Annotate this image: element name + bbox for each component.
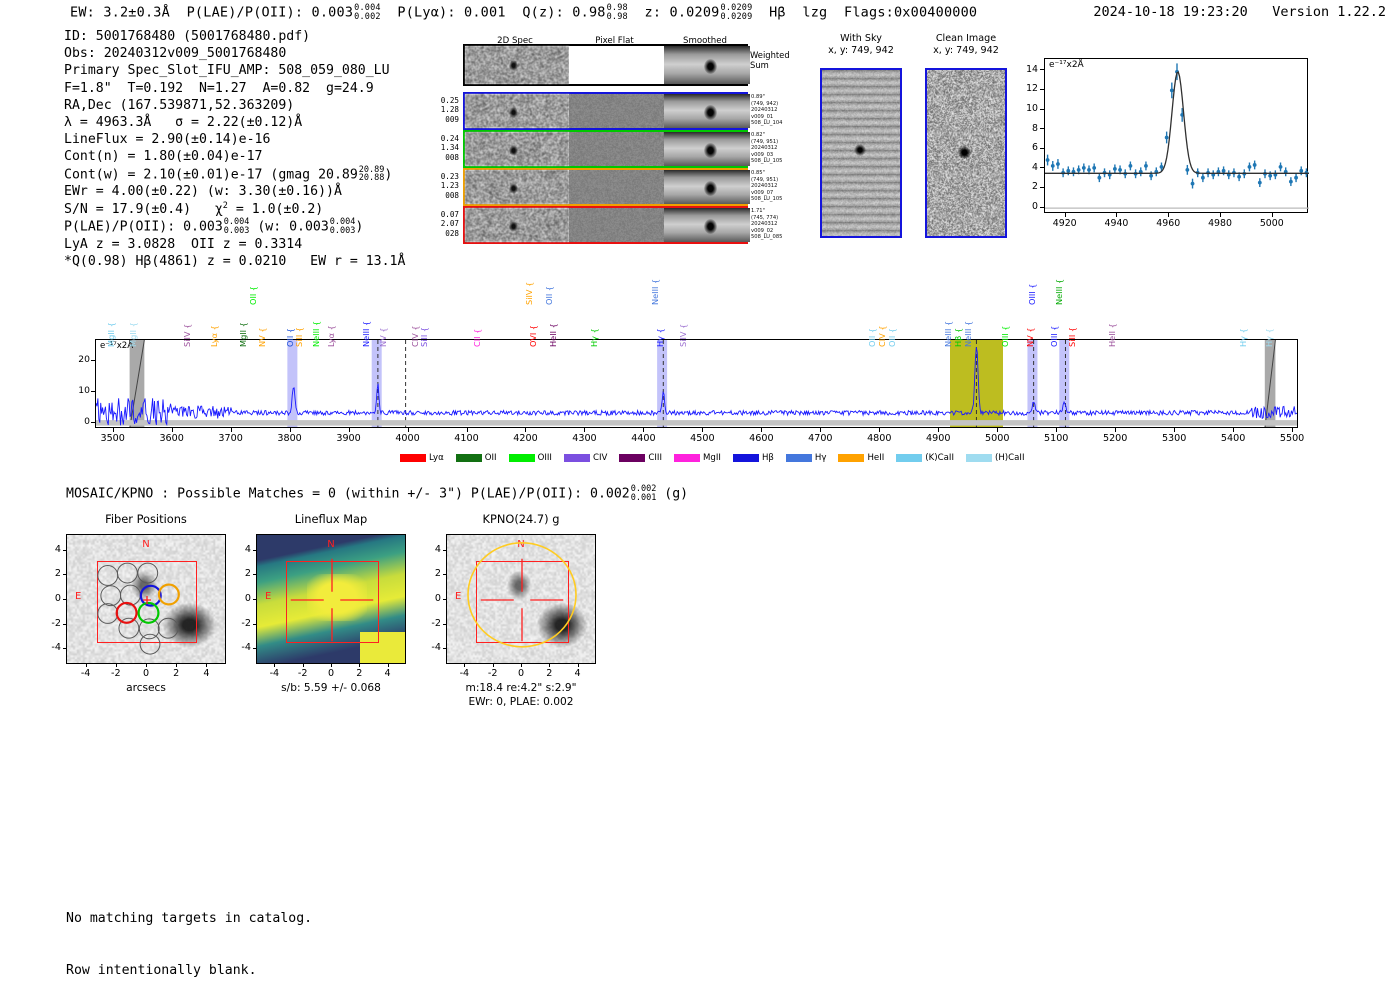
spectral-line-label: SiII {	[294, 327, 304, 347]
panel-x-tick	[578, 664, 579, 667]
legend-item: Hβ	[733, 453, 774, 463]
spectrum-x-tick-label: 3600	[148, 433, 196, 444]
info-seeing-throughput: F=1.8" T=0.192 N=1.27 A=0.82 g=24.9	[64, 80, 405, 97]
spectral-line-label: OII {	[248, 286, 258, 305]
info-radec: RA,Dec (167.539871,52.363209)	[64, 97, 405, 114]
y-tick-label: 10	[1014, 103, 1038, 114]
spectrum-x-tick	[938, 428, 939, 432]
panel-y-tick	[443, 550, 446, 551]
legend-label: Lyα	[429, 453, 444, 463]
panel-x-tick-label: -4	[70, 668, 102, 679]
info-ewr: EWr = 4.00(±0.22) (w: 3.30(±0.16))Å	[64, 183, 405, 200]
sky-source-blob	[854, 144, 866, 156]
x-tick-label: 4960	[1146, 218, 1190, 229]
plae-value: 0.003	[312, 5, 354, 21]
mosaic-filter: (g)	[656, 487, 688, 502]
legend-label: Hβ	[762, 453, 774, 463]
spectral-line-label: CII {	[472, 329, 482, 347]
legend-item: Lyα	[400, 453, 444, 463]
spectrum-y-tick	[91, 391, 95, 392]
panel-y-tick-label: -4	[420, 642, 441, 653]
footer-note-line-1: No matching targets in catalog.	[66, 910, 312, 927]
spec2d-smoothed	[664, 170, 750, 204]
panel-image-2: NE	[446, 534, 596, 664]
panel-x-tick	[521, 664, 522, 667]
panel-x-tick	[274, 664, 275, 667]
panel-y-tick-label: -4	[40, 642, 61, 653]
legend-swatch	[509, 454, 535, 462]
spectrum-canvas	[96, 340, 1298, 428]
panel-sublabel: s/b: 5.59 +/- 0.068	[236, 682, 426, 694]
panel-x-tick	[86, 664, 87, 667]
legend-item: (K)CaII	[896, 453, 954, 463]
spec2d-smoothed-blob	[704, 181, 717, 196]
spec2d-source-blob	[509, 183, 518, 194]
line-plot-unit-label: e⁻¹⁷x2Å	[1049, 60, 1084, 70]
line-highlight-band	[1059, 340, 1069, 428]
info-cont-w: Cont(w) = 2.10(±0.01)e-17 (gmag 20.8920.…	[64, 166, 405, 184]
ew-value: 3.2±0.3Å	[103, 5, 170, 21]
spectrum-x-tick	[231, 428, 232, 432]
spectral-line-label: SiII {	[419, 327, 429, 347]
qz-value: 0.98	[572, 5, 605, 21]
spectral-line-label: SiIV {	[678, 324, 688, 347]
spec2d-fiber-weights: 0.23 1.23 008	[421, 172, 459, 200]
panel-y-tick-label: 0	[40, 593, 61, 604]
panel-y-tick-label: 4	[420, 544, 441, 555]
x-tick-label: 4920	[1043, 218, 1087, 229]
spectrum-x-tick-label: 5200	[1091, 433, 1139, 444]
panel-y-tick-label: 2	[230, 568, 251, 579]
panel-x-tick	[331, 664, 332, 667]
panel-x-tick	[359, 664, 360, 667]
plae-errors: 0.0040.002	[354, 4, 381, 21]
panel-x-tick-label: -4	[448, 668, 480, 679]
y-tick-label: 0	[1014, 201, 1038, 212]
spectral-line-label: MgII {	[128, 322, 138, 347]
line-highlight-band	[372, 340, 382, 428]
spectrum-x-tick	[702, 428, 703, 432]
legend-label: (K)CaII	[925, 453, 954, 463]
legend-item: CIII	[619, 453, 662, 463]
footer-note: No matching targets in catalog. Row inte…	[66, 875, 312, 997]
spectrum-y-tick	[91, 422, 95, 423]
panel-y-tick-label: 0	[230, 593, 251, 604]
object-info-block: ID: 5001768480 (5001768480.pdf) Obs: 202…	[64, 28, 405, 270]
legend-label: CIII	[648, 453, 662, 463]
legend-item: Hγ	[786, 453, 827, 463]
spectral-line-label: Lyα {	[209, 325, 219, 347]
panel-y-tick	[63, 648, 66, 649]
x-tick	[1065, 213, 1066, 217]
spec2d-fiber-strip	[463, 206, 748, 244]
line-plot-axes: e⁻¹⁷x2Å	[1044, 58, 1308, 213]
spectrum-x-tick	[879, 428, 880, 432]
spec2d-fiber-weights: 0.07 2.07 028	[421, 210, 459, 238]
spec2d-source-blob	[509, 221, 518, 232]
spectral-line-label: CIV {	[877, 325, 887, 347]
timestamp: 2024-10-18 19:23:20	[1093, 4, 1247, 20]
spectral-line-label: NeIII {	[963, 321, 973, 347]
panel-y-tick	[443, 599, 446, 600]
y-tick	[1040, 109, 1044, 110]
spectrum-x-tick	[1174, 428, 1175, 432]
spectrum-x-tick-label: 4200	[501, 433, 549, 444]
panel-image-1: NE	[256, 534, 406, 664]
spec2d-fiber-metadata: 1.71" (745, 774) 20240312 v009_02 508_LU…	[751, 208, 782, 241]
panel-x-tick-label: 2	[343, 668, 375, 679]
y-tick-label: 14	[1014, 64, 1038, 75]
panel-y-tick	[63, 550, 66, 551]
legend-swatch	[896, 454, 922, 462]
x-tick-label: 4940	[1094, 218, 1138, 229]
panel-x-tick-label: -4	[258, 668, 290, 679]
panel-x-tick	[549, 664, 550, 667]
cutout-image-1	[925, 68, 1007, 238]
cutout-title-1: Clean Image	[925, 33, 1007, 44]
spectral-line-label: NV {	[378, 327, 388, 347]
y-tick-label: 6	[1014, 142, 1038, 153]
legend-swatch	[966, 454, 992, 462]
spectrum-x-tick-label: 4700	[796, 433, 844, 444]
spectrum-x-tick	[761, 428, 762, 432]
y-tick	[1040, 167, 1044, 168]
spectrum-x-tick-label: 4300	[560, 433, 608, 444]
legend-item: MgII	[674, 453, 721, 463]
info-qline: *Q(0.98) Hβ(4861) z = 0.0210 EW r = 13.1…	[64, 253, 405, 270]
line-highlight-band	[1027, 340, 1037, 428]
cutout-coords-0: x, y: 749, 942	[820, 45, 902, 56]
z-value: 0.0209	[670, 5, 720, 21]
spectral-line-label: Hγ {	[655, 328, 665, 347]
y-tick-label: 8	[1014, 123, 1038, 134]
spectrum-y-tick-label: 20	[67, 354, 90, 365]
spectral-line-label: OII {	[544, 286, 554, 305]
spectrum-x-tick-label: 4600	[737, 433, 785, 444]
y-tick-label: 4	[1014, 162, 1038, 173]
spectrum-x-tick-label: 5000	[973, 433, 1021, 444]
spectrum-x-tick	[820, 428, 821, 432]
spectral-line-label: OIII {	[1049, 325, 1059, 347]
panel-title-1: Lineflux Map	[236, 512, 426, 526]
spectrum-x-tick-label: 3800	[266, 433, 314, 444]
spec2d-smoothed	[664, 208, 750, 242]
spectrum-x-tick-label: 3500	[89, 433, 137, 444]
spectrum-x-tick	[1056, 428, 1057, 432]
x-tick-label: 4980	[1198, 218, 1242, 229]
panel-image-0: NE	[66, 534, 226, 664]
spec2d-smoothed-blob	[704, 219, 717, 234]
legend-item: OIII	[509, 453, 552, 463]
header-summary-line: EW: 3.2±0.3Å P(LAE)/P(OII): 0.0030.0040.…	[70, 4, 977, 21]
panel-x-tick-label: 0	[315, 668, 347, 679]
spectrum-x-tick	[525, 428, 526, 432]
x-tick-label: 5000	[1250, 218, 1294, 229]
panel-y-tick-label: 0	[420, 593, 441, 604]
panel-x-tick-label: 2	[533, 668, 565, 679]
spectrum-x-tick-label: 5500	[1268, 433, 1316, 444]
legend-label: CIV	[593, 453, 607, 463]
line-highlight-band	[657, 340, 667, 428]
spec2d-fiber-strip	[463, 44, 748, 86]
highlighted-fiber	[159, 585, 179, 605]
y-tick	[1040, 128, 1044, 129]
panel-y-tick	[253, 574, 256, 575]
spectral-line-label: SiII {	[1067, 327, 1077, 347]
x-tick	[1168, 213, 1169, 217]
clean-source-blob	[958, 146, 971, 159]
info-id: ID: 5001768480 (5001768480.pdf)	[64, 28, 405, 45]
spectral-line-label: Hβ {	[953, 328, 963, 347]
panel-sublabel: m:18.4 re:4.2" s:2.9"	[426, 682, 616, 694]
legend-label: (H)CaII	[995, 453, 1025, 463]
line-plot-canvas	[1045, 59, 1309, 214]
spectrum-x-tick	[643, 428, 644, 432]
spectral-line-label: NeIII {	[1054, 279, 1064, 305]
spec2d-smoothed-blob	[704, 105, 717, 120]
spectrum-x-tick-label: 4100	[443, 433, 491, 444]
crosshair	[257, 535, 406, 664]
spec2d-fiber-strip	[463, 168, 748, 206]
info-cont-n: Cont(n) = 1.80(±0.04)e-17	[64, 148, 405, 165]
cutout-image-0	[820, 68, 902, 238]
spectrum-x-tick-label: 4800	[855, 433, 903, 444]
flags-value: Flags:0x00400000	[844, 5, 977, 21]
spec2d-fiber-weights: 0.25 1.28 009	[421, 96, 459, 124]
spectral-line-label: NV {	[1025, 327, 1035, 347]
spectral-line-label: Hγ {	[589, 328, 599, 347]
panel-y-tick	[253, 624, 256, 625]
spectrum-x-tick	[584, 428, 585, 432]
qz-label: Q(z):	[522, 5, 564, 21]
spectrum-x-tick-label: 4400	[619, 433, 667, 444]
panel-y-tick	[253, 648, 256, 649]
fit-code: lzg	[802, 5, 827, 21]
spectral-line-label: Hγ {	[1238, 328, 1248, 347]
panel-y-tick-label: 2	[40, 568, 61, 579]
panel-y-tick-label: -2	[40, 618, 61, 629]
spectrum-x-tick-label: 3900	[325, 433, 373, 444]
plya-label: P(Lyα):	[397, 5, 455, 21]
qz-errors: 0.980.98	[607, 4, 628, 21]
spectrum-x-tick	[1233, 428, 1234, 432]
y-tick	[1040, 69, 1044, 70]
crosshair	[447, 535, 596, 664]
panel-x-tick-label: 4	[372, 668, 404, 679]
legend-label: HeII	[867, 453, 884, 463]
x-tick	[1220, 213, 1221, 217]
spectral-line-label: Hγ {	[1264, 328, 1274, 347]
panel-y-tick-label: 4	[40, 544, 61, 555]
version-label: Version 1.22.2	[1272, 4, 1386, 20]
legend-label: OIII	[538, 453, 552, 463]
spectrum-x-tick	[1115, 428, 1116, 432]
y-tick	[1040, 89, 1044, 90]
spectral-line-label: OII {	[887, 328, 897, 347]
panel-x-tick	[303, 664, 304, 667]
spectrum-x-tick-label: 5400	[1209, 433, 1257, 444]
cutout-title-0: With Sky	[820, 33, 902, 44]
spec2d-fiber-metadata: 0.89" (749, 942) 20240312 v009_01 508_LU…	[751, 94, 782, 127]
spectral-line-label: SiIV {	[182, 324, 192, 347]
panel-x-tick-label: 2	[160, 668, 192, 679]
spectrum-x-tick	[1292, 428, 1293, 432]
spectrum-x-tick-label: 5100	[1032, 433, 1080, 444]
spec2d-fiber-weights: 0.24 1.34 008	[421, 134, 459, 162]
panel-y-tick	[63, 624, 66, 625]
line-id: Hβ	[769, 5, 786, 21]
panel-title-2: KPNO(24.7) g	[426, 512, 616, 526]
panel-x-tick	[464, 664, 465, 667]
panel-x-tick	[116, 664, 117, 667]
spectrum-x-tick-label: 5300	[1150, 433, 1198, 444]
spectral-line-label: NeIII {	[650, 279, 660, 305]
spectral-line-label: OVI {	[528, 325, 538, 347]
y-tick	[1040, 207, 1044, 208]
x-tick	[1116, 213, 1117, 217]
mosaic-plae-errors: 0.0020.001	[631, 485, 657, 502]
info-lambda-sigma: λ = 4963.3Å σ = 2.22(±0.12)Å	[64, 114, 405, 131]
panel-y-tick	[63, 599, 66, 600]
legend-item: CIV	[564, 453, 607, 463]
spectrum-x-tick-label: 4900	[914, 433, 962, 444]
spectrum-x-tick	[997, 428, 998, 432]
legend-label: MgII	[703, 453, 721, 463]
spec2d-source-blob	[509, 145, 518, 156]
spec2d-smoothed-blob	[704, 143, 717, 158]
panel-x-tick	[206, 664, 207, 667]
legend-swatch	[838, 454, 864, 462]
spectral-line-label: MgII {	[238, 322, 248, 347]
panel-x-tick-label: -2	[477, 668, 509, 679]
spectral-line-label: NeIII {	[311, 321, 321, 347]
x-tick	[1272, 213, 1273, 217]
panel-y-tick	[63, 574, 66, 575]
panel-y-tick	[253, 550, 256, 551]
legend-swatch	[456, 454, 482, 462]
info-plae: P(LAE)/P(OII): 0.0030.0040.003 (w: 0.003…	[64, 218, 405, 236]
panel-y-tick	[443, 624, 446, 625]
spec2d-fiber-strip	[463, 130, 748, 168]
legend-item: OII	[456, 453, 497, 463]
spectral-line-label: HeII {	[1107, 323, 1117, 347]
spectrum-y-tick-label: 0	[67, 416, 90, 427]
highlighted-fiber	[117, 603, 137, 623]
info-lineflux: LineFlux = 2.90(±0.14)e-16	[64, 131, 405, 148]
spectrum-x-tick-label: 4000	[384, 433, 432, 444]
spectral-line-label: OIII {	[1000, 325, 1010, 347]
spec2d-smoothed	[664, 46, 750, 84]
spec2d-fiber-metadata: 0.82" (749, 951) 20240312 v009_03 508_LU…	[751, 132, 782, 165]
legend-swatch	[619, 454, 645, 462]
panel-sublabel: EWr: 0, PLAE: 0.002	[426, 696, 616, 708]
legend-swatch	[674, 454, 700, 462]
ew-label: EW:	[70, 5, 95, 21]
panel-x-tick-label: 0	[130, 668, 162, 679]
spectral-line-label: MgII {	[106, 322, 116, 347]
gaussian-fit-curve	[1045, 72, 1309, 173]
spectrum-x-tick	[349, 428, 350, 432]
spec2d-fiber-strip	[463, 92, 748, 130]
spec2d-source-blob	[509, 107, 518, 118]
legend-swatch	[400, 454, 426, 462]
legend-swatch	[733, 454, 759, 462]
spectral-line-label: HeII {	[548, 323, 558, 347]
weighted-sum-label: Weighted Sum	[750, 50, 790, 70]
panel-x-tick-label: 0	[505, 668, 537, 679]
mosaic-text: MOSAIC/KPNO : Possible Matches = 0 (with…	[66, 487, 630, 502]
plya-value: 0.001	[464, 5, 506, 21]
panel-y-tick-label: -2	[230, 618, 251, 629]
z-errors: 0.02090.0209	[721, 4, 753, 21]
spec2d-smoothed	[664, 94, 750, 128]
spectral-line-label: SiIV {	[524, 282, 534, 305]
panel-x-tick-label: -2	[100, 668, 132, 679]
footer-note-line-2: Row intentionally blank.	[66, 962, 312, 979]
info-redshifts: LyA z = 3.0828 OII z = 0.3314	[64, 236, 405, 253]
spectral-line-label: NeIII {	[943, 321, 953, 347]
panel-x-tick	[388, 664, 389, 667]
panel-x-tick	[146, 664, 147, 667]
spectral-line-label: NV {	[257, 327, 267, 347]
legend-item: HeII	[838, 453, 884, 463]
cutout-coords-1: x, y: 749, 942	[925, 45, 1007, 56]
spec2d-source-blob	[509, 60, 518, 71]
spectral-line-label: NeIII {	[361, 321, 371, 347]
panel-x-tick-label: -2	[287, 668, 319, 679]
spectrum-x-tick-label: 4500	[678, 433, 726, 444]
spectrum-x-tick-label: 3700	[207, 433, 255, 444]
spectrum-x-tick	[113, 428, 114, 432]
legend-swatch	[564, 454, 590, 462]
panel-y-tick	[443, 648, 446, 649]
panel-y-tick-label: 4	[230, 544, 251, 555]
legend-item: (H)CaII	[966, 453, 1025, 463]
panel-x-tick-label: 4	[562, 668, 594, 679]
y-tick	[1040, 187, 1044, 188]
fiber-circles	[67, 535, 226, 664]
mosaic-summary-line: MOSAIC/KPNO : Possible Matches = 0 (with…	[66, 485, 688, 502]
spectrum-trace	[96, 347, 1298, 425]
plae-label: P(LAE)/P(OII):	[187, 5, 304, 21]
spec2d-smoothed	[664, 132, 750, 166]
y-tick-label: 12	[1014, 83, 1038, 94]
spectral-line-label: OII {	[867, 328, 877, 347]
spectrum-legend: LyαOIIOIIICIVCIIIMgIIHβHγHeII(K)CaII(H)C…	[400, 453, 1034, 463]
panel-x-tick-label: 4	[190, 668, 222, 679]
info-obs: Obs: 20240312v009_5001768480	[64, 45, 405, 62]
spectrum-x-tick	[408, 428, 409, 432]
legend-label: OII	[485, 453, 497, 463]
spectrum-y-tick	[91, 360, 95, 361]
info-snr-chi2: S/N = 17.9(±0.4) χ2 = 1.0(±0.2)	[64, 201, 405, 218]
panel-xlabel: arcsecs	[66, 682, 226, 694]
legend-label: Hγ	[815, 453, 827, 463]
spec2d-pixel-flat	[569, 46, 664, 84]
data-points	[1046, 63, 1309, 188]
spec2d-smoothed-blob	[704, 59, 717, 74]
y-tick-label: 2	[1014, 181, 1038, 192]
spectral-line-label: OIII {	[1027, 283, 1037, 305]
legend-swatch	[786, 454, 812, 462]
panel-x-tick	[176, 664, 177, 667]
spec2d-fiber-metadata: 0.85" (749, 951) 20240312 v009_07 508_LU…	[751, 170, 782, 203]
panel-y-tick-label: 2	[420, 568, 441, 579]
spectrum-axes: e⁻¹⁷x2Å	[95, 339, 1298, 428]
y-tick	[1040, 148, 1044, 149]
spectrum-x-tick	[172, 428, 173, 432]
panel-y-tick-label: -4	[230, 642, 251, 653]
